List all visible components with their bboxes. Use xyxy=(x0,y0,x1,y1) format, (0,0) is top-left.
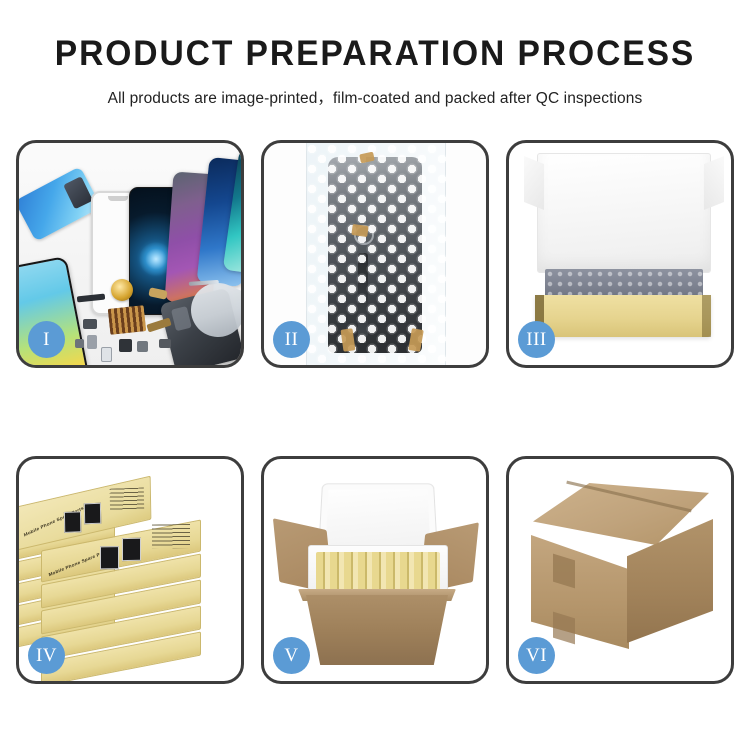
box-screen-artwork xyxy=(64,511,81,533)
box-screen-artwork xyxy=(122,538,141,561)
step-badge-6: VI xyxy=(518,637,555,674)
small-part-graphic xyxy=(137,341,148,352)
box-spec-lines xyxy=(110,488,144,511)
box-screen-artwork xyxy=(100,546,119,569)
infographic-page: PRODUCT PREPARATION PROCESS All products… xyxy=(0,0,750,750)
step-badge-3: III xyxy=(518,321,555,358)
page-subtitle: All products are image-printed，film-coat… xyxy=(0,86,750,108)
adhesive-sheet-graphic xyxy=(19,166,101,241)
yellow-box-front-graphic xyxy=(535,295,711,337)
page-title: PRODUCT PREPARATION PROCESS xyxy=(15,36,735,73)
step-panel-6: VI xyxy=(506,456,734,684)
step-panel-2: II xyxy=(261,140,489,368)
foam-lid-graphic xyxy=(537,153,711,273)
box-screen-artwork xyxy=(84,503,101,525)
small-part-graphic xyxy=(159,339,171,348)
small-part-graphic xyxy=(75,339,84,348)
step-panel-4: Mobile Phone Spare Parts Mobile Phone Sp… xyxy=(16,456,244,684)
small-part-graphic xyxy=(87,335,97,349)
process-step-grid: I II I xyxy=(16,140,734,685)
step-badge-5: V xyxy=(273,637,310,674)
bubble-bag-graphic xyxy=(306,143,446,365)
step-panel-1: I xyxy=(16,140,244,368)
small-part-graphic xyxy=(101,347,112,362)
carton-left-face-graphic xyxy=(531,535,629,649)
tape-strip-graphic xyxy=(351,224,368,237)
chip-array-graphic xyxy=(108,305,147,335)
step-badge-2: II xyxy=(273,321,310,358)
small-part-graphic xyxy=(119,339,132,352)
step-panel-5: V xyxy=(261,456,489,684)
bubble-texture-graphic xyxy=(306,143,446,365)
step-badge-4: IV xyxy=(28,637,65,674)
small-part-graphic xyxy=(83,319,97,329)
page-header: PRODUCT PREPARATION PROCESS All products… xyxy=(0,0,750,108)
step-badge-1: I xyxy=(28,321,65,358)
box-spec-lines xyxy=(152,524,190,549)
step-panel-3: III xyxy=(506,140,734,368)
carton-body-graphic xyxy=(306,595,448,665)
copper-coil-graphic xyxy=(111,279,133,301)
carton-tape-graphic xyxy=(553,612,575,645)
